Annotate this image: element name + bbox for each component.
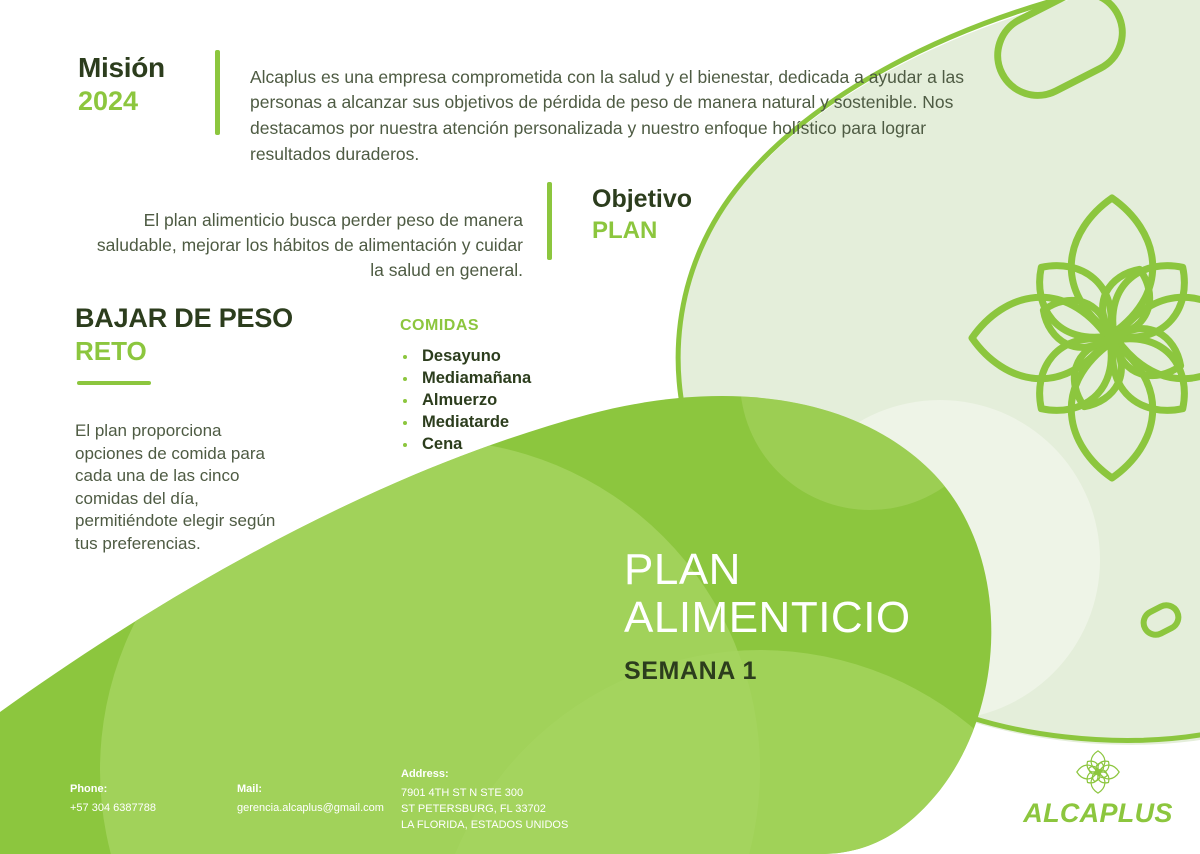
mission-title: Misión	[78, 52, 208, 84]
meal-label: Mediamañana	[422, 369, 531, 387]
objective-divider	[547, 182, 552, 260]
list-item: Mediatarde	[400, 412, 630, 434]
objective-subtitle: PLAN	[592, 217, 842, 246]
flower-logo-icon	[1068, 748, 1128, 796]
footer-mail-value[interactable]: gerencia.alcaplus@gmail.com	[237, 801, 384, 817]
objective-heading-block: Objetivo PLAN	[592, 184, 842, 246]
footer-phone-column: Phone: +57 304 6387788	[70, 783, 156, 817]
challenge-title: BAJAR DE PESO	[75, 303, 325, 334]
mission-heading-block: Misión 2024	[78, 52, 208, 117]
brochure-page: Misión 2024 Alcaplus es una empresa comp…	[0, 0, 1200, 854]
footer-mail-label: Mail:	[237, 783, 384, 795]
meals-list: Desayuno Mediamañana Almuerzo Mediatarde…	[400, 346, 630, 456]
challenge-underline	[77, 381, 151, 385]
meal-label: Almuerzo	[422, 391, 497, 409]
hero-title-block: PLAN ALIMENTICIO SEMANA 1	[624, 546, 1104, 686]
footer-mail-column: Mail: gerencia.alcaplus@gmail.com	[237, 783, 384, 817]
list-item: Desayuno	[400, 346, 630, 368]
objective-title: Objetivo	[592, 184, 842, 214]
bullet-icon	[403, 399, 407, 403]
bullet-icon	[403, 421, 407, 425]
footer-address-label: Address:	[401, 768, 568, 780]
bullet-icon	[403, 443, 407, 447]
challenge-subtitle: RETO	[75, 337, 325, 367]
footer-address-column: Address: 7901 4TH ST N STE 300 ST PETERS…	[401, 768, 568, 834]
brand-logo-text: ALCAPLUS	[1012, 798, 1184, 829]
mission-text: Alcaplus es una empresa comprometida con…	[250, 65, 990, 169]
list-item: Cena	[400, 434, 630, 456]
meal-label: Desayuno	[422, 347, 501, 365]
mandala-flower-decoration	[972, 198, 1200, 478]
footer-address-line2: ST PETERSBURG, FL 33702	[401, 802, 568, 818]
pill-outline-small	[1140, 601, 1183, 639]
hero-title-line1: PLAN	[624, 546, 1104, 594]
hero-title-line2: ALIMENTICIO	[624, 594, 1104, 642]
meal-label: Mediatarde	[422, 413, 509, 431]
meals-title: COMIDAS	[400, 317, 630, 335]
meals-block: COMIDAS Desayuno Mediamañana Almuerzo Me…	[400, 317, 630, 456]
footer-address-line1: 7901 4TH ST N STE 300	[401, 786, 568, 802]
meal-label: Cena	[422, 435, 462, 453]
footer-address-line3: LA FLORIDA, ESTADOS UNIDOS	[401, 818, 568, 834]
challenge-heading-block: BAJAR DE PESO RETO	[75, 303, 325, 385]
mission-year: 2024	[78, 86, 208, 117]
footer-phone-label: Phone:	[70, 783, 156, 795]
hero-week-label: SEMANA 1	[624, 657, 1104, 686]
bullet-icon	[403, 355, 407, 359]
mission-divider	[215, 50, 220, 135]
pill-outline-large	[984, 0, 1136, 109]
bullet-icon	[403, 377, 407, 381]
list-item: Mediamañana	[400, 368, 630, 390]
brand-logo: ALCAPLUS	[1012, 748, 1184, 829]
hero-highlight-top	[740, 250, 1000, 510]
challenge-text: El plan proporciona opciones de comida p…	[75, 420, 290, 556]
objective-text: El plan alimenticio busca perder peso de…	[88, 208, 523, 284]
footer-phone-value[interactable]: +57 304 6387788	[70, 801, 156, 817]
list-item: Almuerzo	[400, 390, 630, 412]
